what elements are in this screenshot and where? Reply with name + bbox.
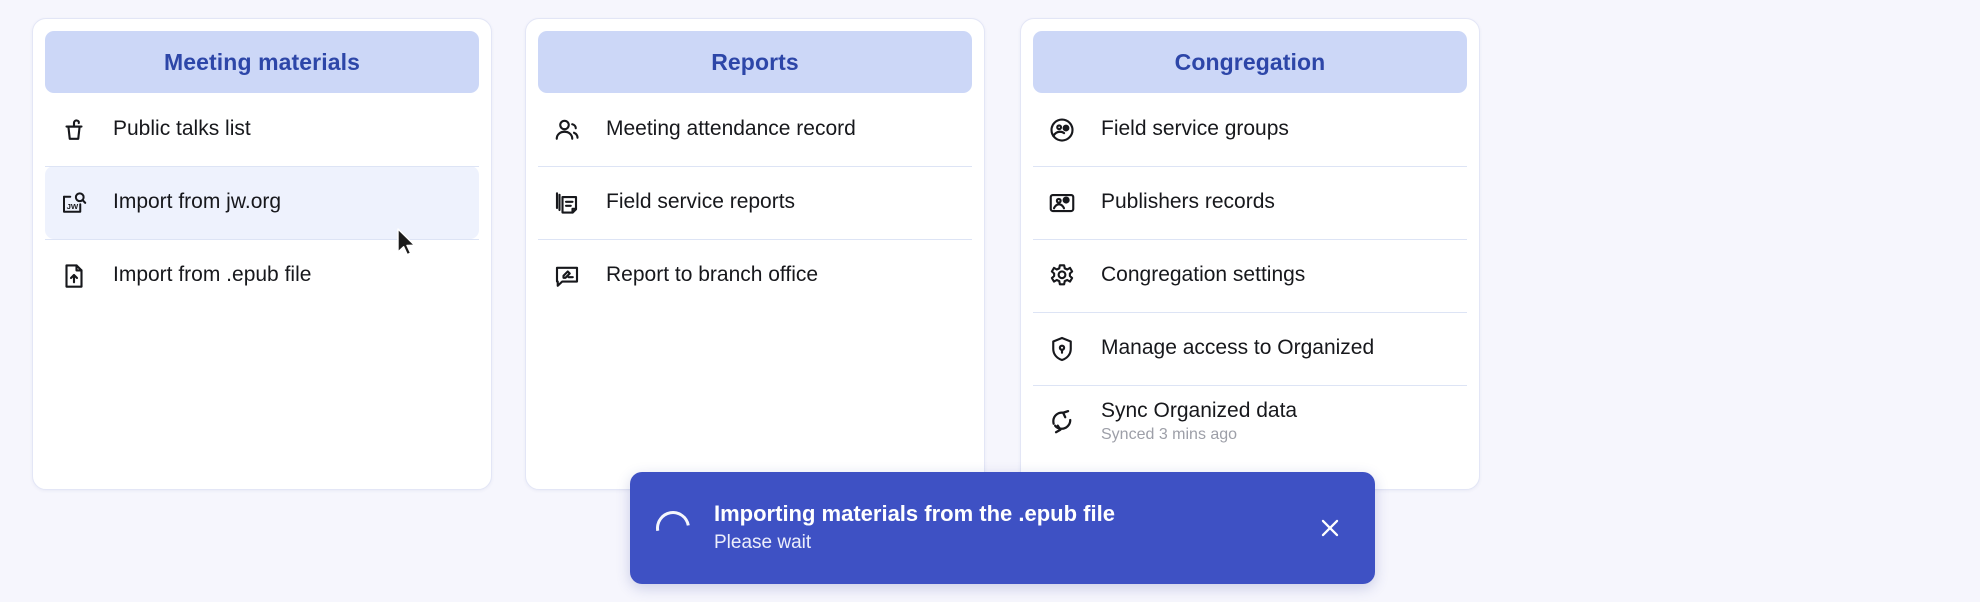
- list-item-label: Manage access to Organized: [1101, 336, 1374, 360]
- list-item-public-talks-list[interactable]: Public talks list: [45, 93, 479, 166]
- card-congregation: Congregation Field service groups: [1020, 18, 1480, 490]
- list-item-import-from-epub-file[interactable]: Import from .epub file: [45, 239, 479, 312]
- list-item-sync-organized-data[interactable]: Sync Organized data Synced 3 mins ago: [1033, 385, 1467, 458]
- list-item-text: Sync Organized data Synced 3 mins ago: [1101, 399, 1297, 445]
- list-item-label: Field service groups: [1101, 117, 1289, 141]
- list-item-sublabel: Synced 3 mins ago: [1101, 426, 1297, 444]
- list-item-text: Congregation settings: [1101, 263, 1305, 287]
- list-item-label: Public talks list: [113, 117, 251, 141]
- id-card-icon: [1045, 186, 1079, 220]
- card-title: Meeting materials: [164, 49, 360, 76]
- list-item-text: Public talks list: [113, 117, 251, 141]
- card-title: Congregation: [1175, 49, 1326, 76]
- list-item-field-service-groups[interactable]: Field service groups: [1033, 93, 1467, 166]
- card-list-congregation: Field service groups Publishers records: [1021, 93, 1479, 458]
- list-item-text: Field service reports: [606, 190, 795, 214]
- loading-spinner-icon: [649, 504, 696, 551]
- list-item-manage-access-to-organized[interactable]: Manage access to Organized: [1033, 312, 1467, 385]
- gear-icon: [1045, 259, 1079, 293]
- list-item-meeting-attendance-record[interactable]: Meeting attendance record: [538, 93, 972, 166]
- app-root: Meeting materials Public talks list: [0, 0, 1980, 602]
- card-reports: Reports Meeting attendance record: [525, 18, 985, 490]
- toast-body: Importing materials from the .epub file …: [714, 501, 1313, 554]
- close-icon[interactable]: [1313, 511, 1347, 545]
- list-item-label: Report to branch office: [606, 263, 818, 287]
- people-icon: [550, 113, 584, 147]
- list-item-text: Import from .epub file: [113, 263, 311, 287]
- list-item-label: Import from .epub file: [113, 263, 311, 287]
- group-avatar-icon: [1045, 113, 1079, 147]
- list-item-text: Report to branch office: [606, 263, 818, 287]
- card-title: Reports: [711, 49, 799, 76]
- list-item-congregation-settings[interactable]: Congregation settings: [1033, 239, 1467, 312]
- list-item-field-service-reports[interactable]: Field service reports: [538, 166, 972, 239]
- list-item-import-from-jw-org[interactable]: JW Import from jw.org: [45, 166, 479, 239]
- list-item-text: Publishers records: [1101, 190, 1275, 214]
- toast-importing-materials: Importing materials from the .epub file …: [630, 472, 1375, 584]
- card-meeting-materials: Meeting materials Public talks list: [32, 18, 492, 490]
- shield-lock-icon: [1045, 332, 1079, 366]
- toast-title: Importing materials from the .epub file: [714, 501, 1313, 527]
- sync-icon: [1045, 405, 1079, 439]
- card-header-meeting-materials: Meeting materials: [45, 31, 479, 93]
- list-item-text: Field service groups: [1101, 117, 1289, 141]
- list-item-publishers-records[interactable]: Publishers records: [1033, 166, 1467, 239]
- svg-text:JW: JW: [67, 201, 79, 210]
- toast-subtitle: Please wait: [714, 532, 1313, 555]
- card-list-meeting-materials: Public talks list JW Import from jw.org: [33, 93, 491, 312]
- list-item-label: Meeting attendance record: [606, 117, 856, 141]
- card-header-reports: Reports: [538, 31, 972, 93]
- jw-search-icon: JW: [57, 186, 91, 220]
- list-item-report-to-branch-office[interactable]: Report to branch office: [538, 239, 972, 312]
- podium-icon: [57, 113, 91, 147]
- comment-edit-icon: [550, 259, 584, 293]
- documents-stack-icon: [550, 186, 584, 220]
- list-item-label: Publishers records: [1101, 190, 1275, 214]
- file-upload-icon: [57, 259, 91, 293]
- list-item-label: Sync Organized data: [1101, 399, 1297, 423]
- list-item-text: Import from jw.org: [113, 190, 281, 214]
- card-header-congregation: Congregation: [1033, 31, 1467, 93]
- list-item-label: Import from jw.org: [113, 190, 281, 214]
- card-list-reports: Meeting attendance record Field service: [526, 93, 984, 312]
- list-item-text: Meeting attendance record: [606, 117, 856, 141]
- list-item-label: Congregation settings: [1101, 263, 1305, 287]
- list-item-label: Field service reports: [606, 190, 795, 214]
- list-item-text: Manage access to Organized: [1101, 336, 1374, 360]
